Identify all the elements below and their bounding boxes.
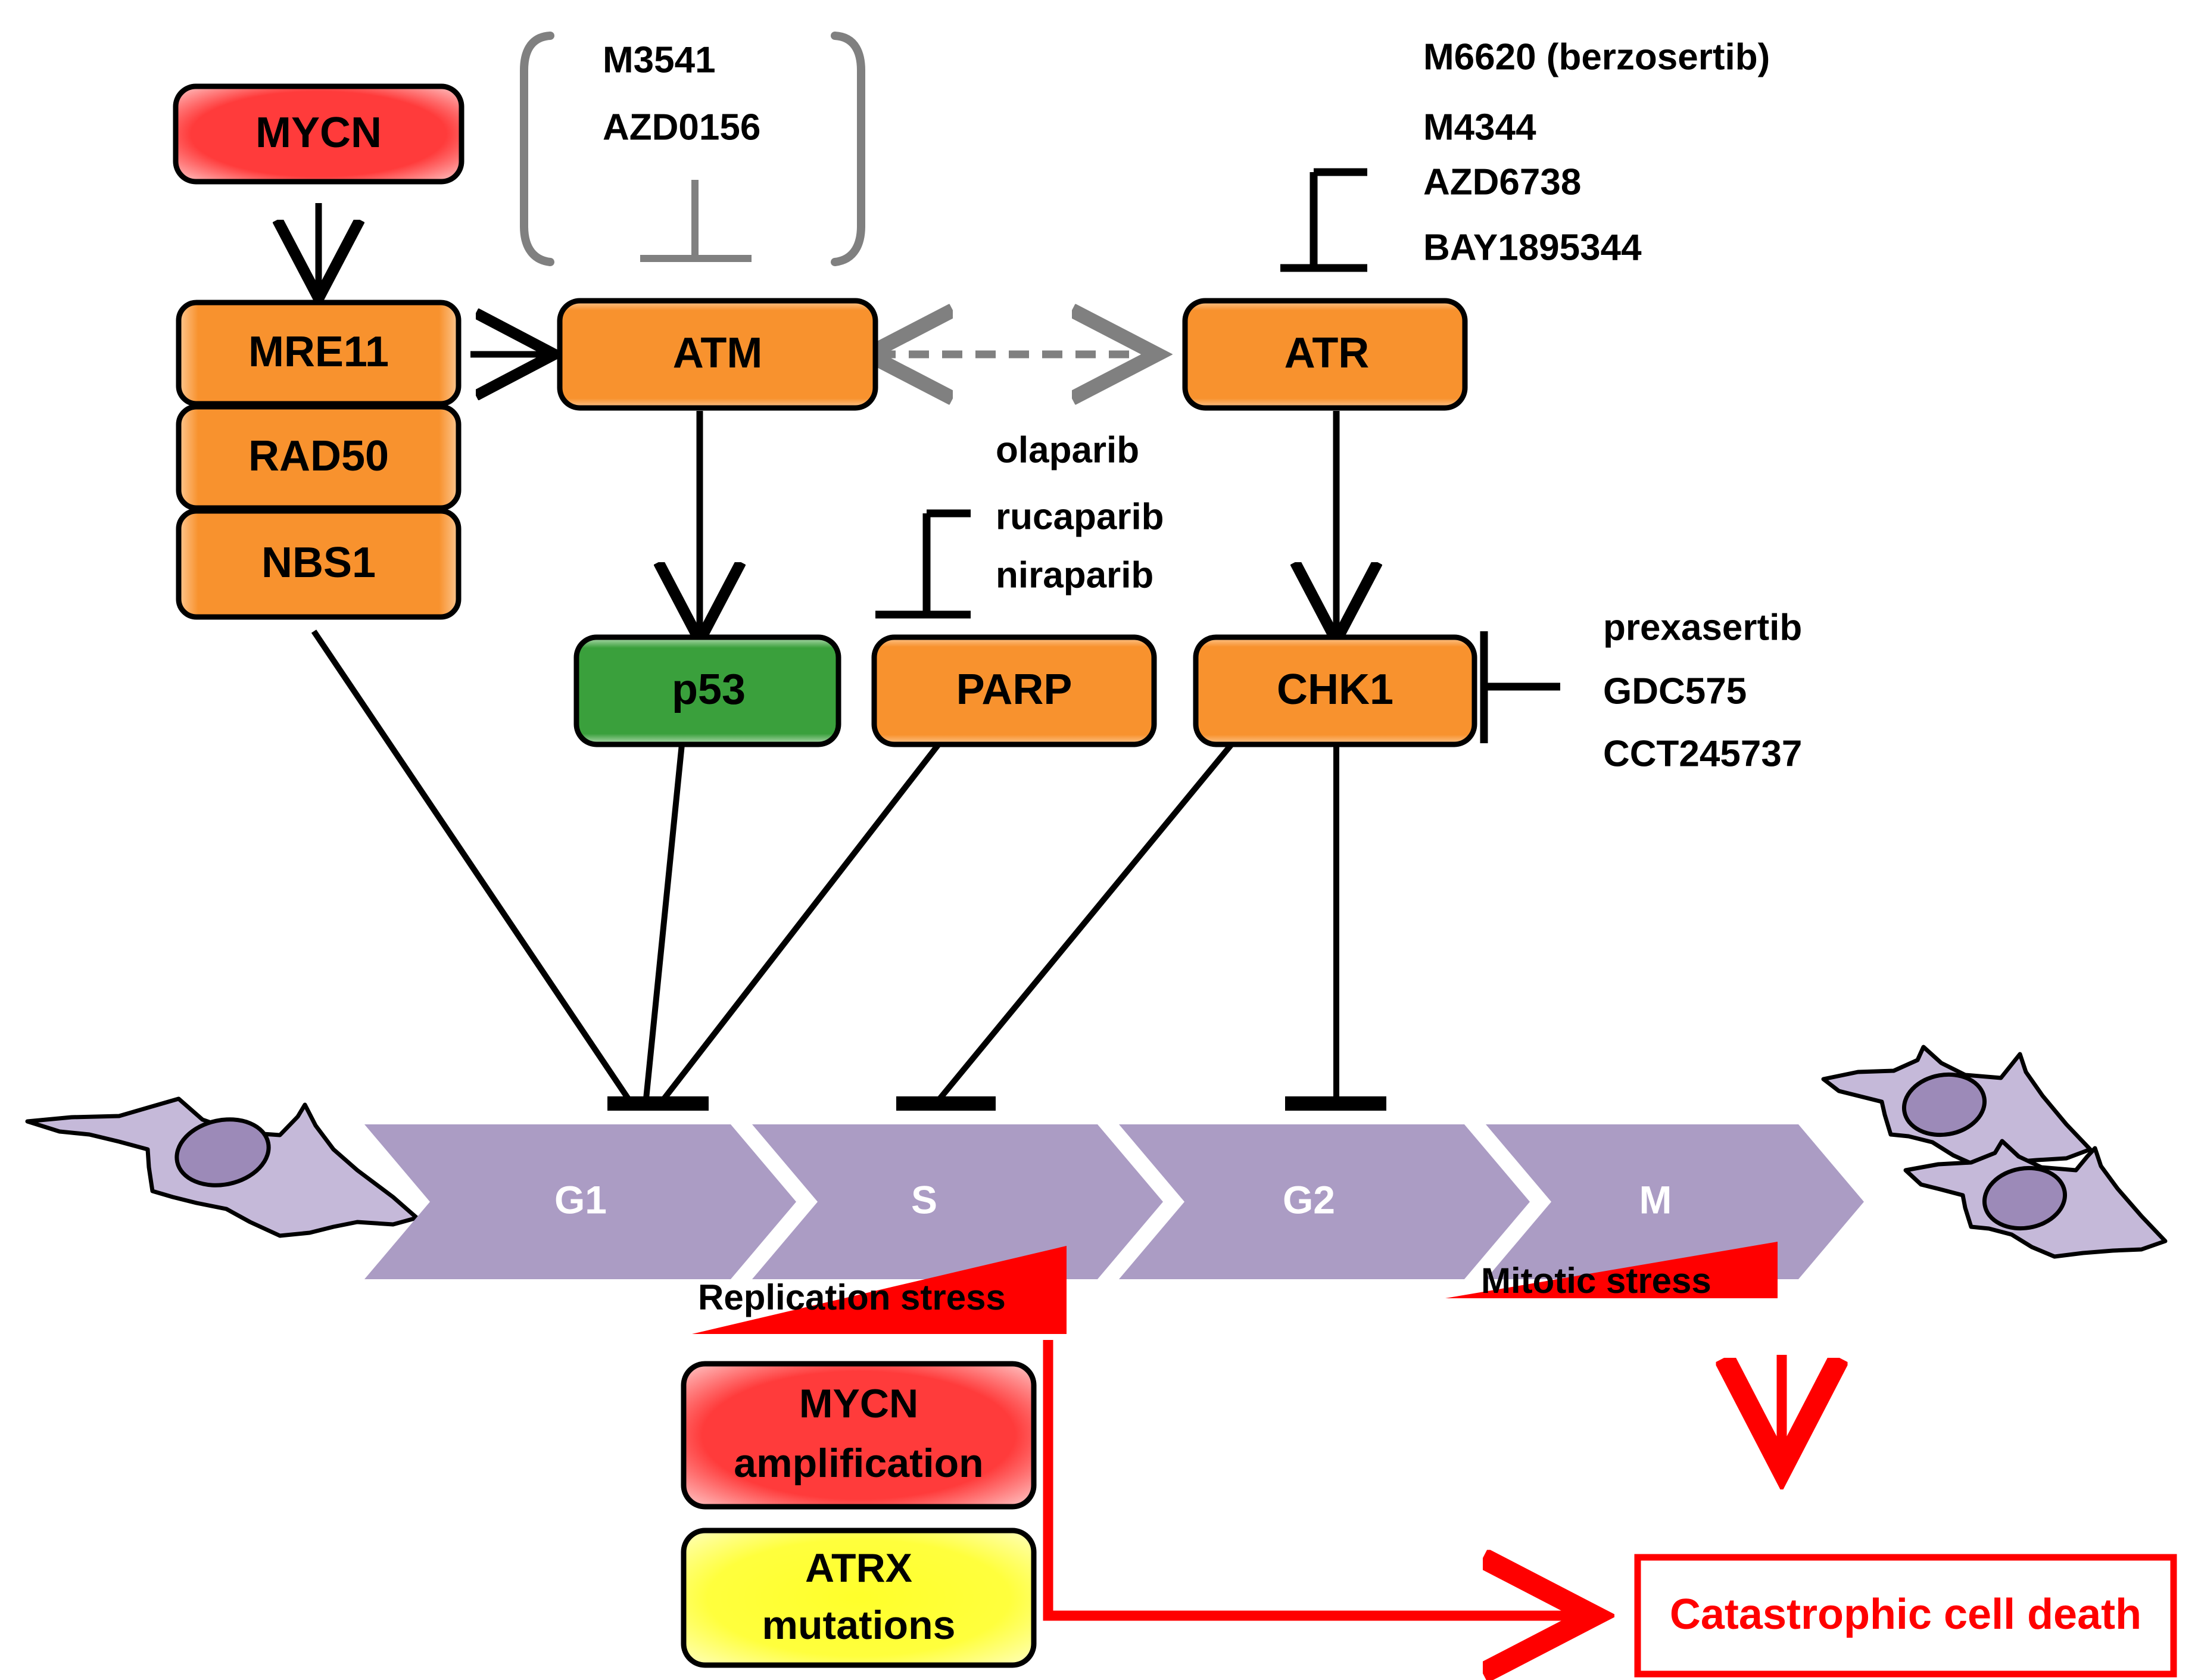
node-parp-label: PARP — [956, 666, 1073, 713]
node-mre11-label: MRE11 — [248, 328, 389, 376]
chk1-inhibitor-bracket — [1484, 631, 1560, 743]
red-path-replication-stress-to-cell-death — [1048, 1340, 1584, 1616]
catastrophic-cell-death-label: Catastrophic cell death — [1670, 1591, 2141, 1638]
phase-label-g2: G2 — [1283, 1177, 1335, 1221]
pathway-connectors: ATR dashed --> — [319, 203, 1336, 634]
line-parp-to-g1 — [664, 744, 939, 1099]
node-nbs1-label: NBS1 — [261, 539, 376, 587]
dna-damage-response-pathway-svg: M3541 AZD0156 M6620 (berzosertib) M4344 … — [0, 0, 2198, 1680]
phase-label-m: M — [1639, 1177, 1672, 1221]
phase-label-g1: G1 — [554, 1177, 607, 1221]
parp-inhibitor-bracket — [875, 513, 971, 615]
pathway-diagram-canvas: M3541 AZD0156 M6620 (berzosertib) M4344 … — [0, 0, 2198, 1680]
left-cell-illustration — [27, 1099, 417, 1236]
atr-inhibitor-1-label: M6620 (berzosertib) — [1423, 36, 1770, 77]
chk1-inhibitor-1-label: prexasertib — [1603, 607, 1802, 648]
atm-inhibitor-1-label: M3541 — [603, 39, 716, 80]
atrx-mutations-line2: mutations — [762, 1603, 956, 1648]
line-chk1-to-s — [940, 744, 1231, 1099]
atm-inhibitor-2-label: AZD0156 — [603, 107, 760, 148]
mycn-amplification-line2: amplification — [734, 1441, 983, 1486]
node-chk1-label: CHK1 — [1277, 666, 1393, 713]
node-mycn-label: MYCN — [255, 109, 382, 157]
parp-inhibitor-2-label: rucaparib — [996, 496, 1164, 537]
node-atr-label: ATR — [1284, 329, 1370, 377]
atrx-mutations-line1: ATRX — [805, 1545, 912, 1591]
node-rad50-label: RAD50 — [248, 432, 389, 480]
node-atm-label: ATM — [673, 329, 763, 377]
chk1-inhibitor-2-label: GDC575 — [1603, 671, 1747, 712]
cell-cycle-phase-s — [752, 1124, 1163, 1279]
line-p53-to-g1 — [646, 744, 682, 1099]
chk1-inhibitor-3-label: CCT245737 — [1603, 733, 1802, 774]
mitotic-stress-label: Mitotic stress — [1481, 1261, 1711, 1301]
node-p53-label: p53 — [672, 666, 746, 713]
atr-inhibitor-4-label: BAY1895344 — [1423, 227, 1642, 268]
mycn-amplification-line1: MYCN — [799, 1381, 918, 1426]
parp-inhibitor-1-label: olaparib — [996, 429, 1139, 470]
phase-label-s: S — [911, 1177, 937, 1221]
atr-inhibitor-2-label: M4344 — [1423, 107, 1536, 148]
right-daughter-cells-illustration — [1823, 1047, 2165, 1257]
cell-cycle-phase-m — [1486, 1124, 1864, 1279]
atr-inhibitor-bracket — [1280, 172, 1367, 268]
parp-inhibitor-3-label: niraparib — [996, 554, 1153, 596]
replication-stress-label: Replication stress — [698, 1277, 1006, 1317]
atr-inhibitor-3-label: AZD6738 — [1423, 161, 1581, 202]
